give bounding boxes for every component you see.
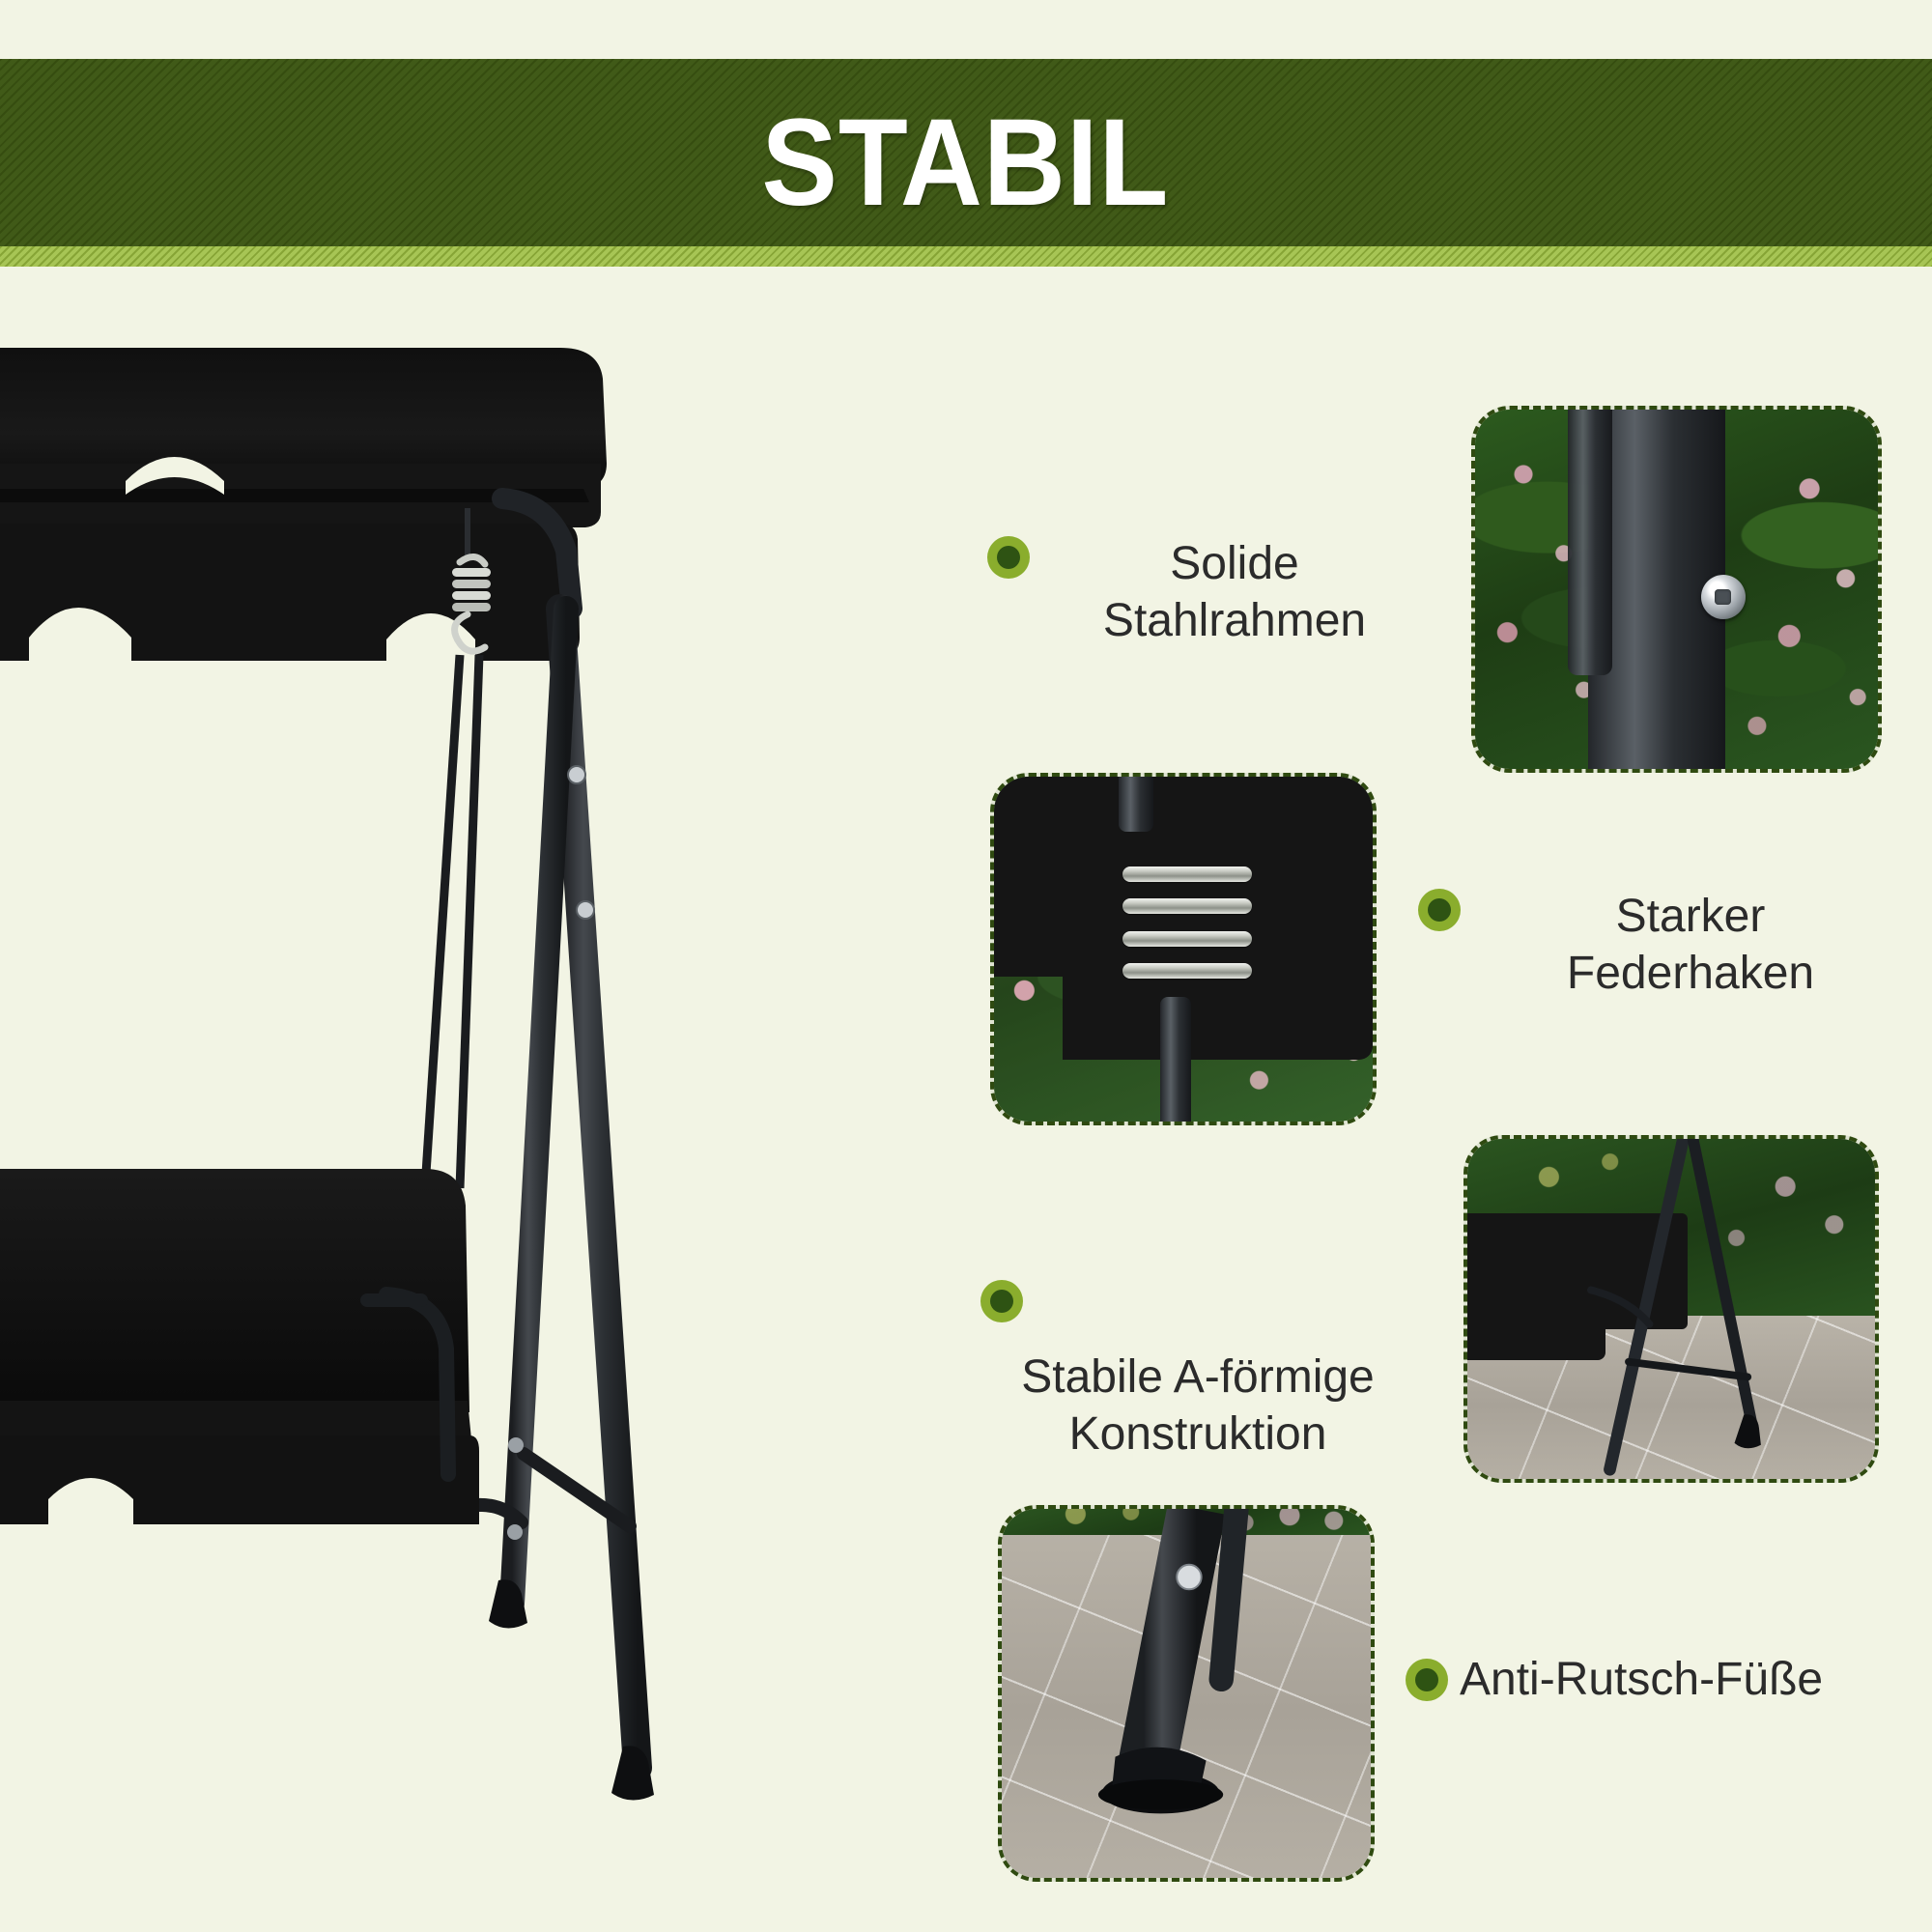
bullet-icon <box>980 1280 1023 1322</box>
a-frame-legs <box>1467 1139 1875 1479</box>
feature-stabile-a-foermige-konstruktion: Stabile A-förmige Konstruktion <box>980 1280 1435 1322</box>
bullet-icon <box>987 536 1030 579</box>
hook-bracket <box>1119 773 1152 832</box>
leg-with-foot <box>1002 1509 1371 1878</box>
swing-illustration <box>0 319 792 1884</box>
inset-steel-frame-closeup <box>1471 406 1882 773</box>
infographic-page: STABIL <box>0 0 1932 1932</box>
page-title: STABIL <box>761 101 1169 225</box>
header-banner: STABIL <box>0 59 1932 267</box>
feature-label: Starker Federhaken <box>1517 889 1864 1002</box>
inset-anti-slip-foot-closeup <box>998 1505 1375 1882</box>
banner-bottom-stripe <box>0 246 1932 267</box>
photo-spring-hook <box>994 777 1373 1122</box>
product-image <box>0 319 792 1884</box>
frame-pole <box>1160 997 1190 1125</box>
photo-anti-slip-foot <box>1002 1509 1371 1878</box>
photo-steel-frame <box>1475 410 1878 769</box>
feature-starker-federhaken: Starker Federhaken <box>1418 889 1872 1002</box>
inset-spring-hook-closeup <box>990 773 1377 1125</box>
spring-hook-icon <box>1122 867 1251 991</box>
photo-a-frame <box>1467 1139 1875 1479</box>
bolt-icon <box>1701 575 1746 619</box>
bullet-icon <box>1418 889 1461 931</box>
feature-anti-rutsch-fuesse: Anti-Rutsch-Füße <box>1406 1652 1908 1709</box>
feature-label: Solide Stahlrahmen <box>1076 536 1393 649</box>
inset-a-frame-construction <box>1463 1135 1879 1483</box>
feature-label: Anti-Rutsch-Füße <box>1460 1652 1823 1709</box>
feature-label: Stabile A-förmige Konstruktion <box>971 1350 1425 1463</box>
feature-solide-stahlrahmen: Solide Stahlrahmen <box>987 536 1393 649</box>
steel-tube-secondary <box>1568 406 1612 675</box>
bullet-icon <box>1406 1659 1448 1701</box>
